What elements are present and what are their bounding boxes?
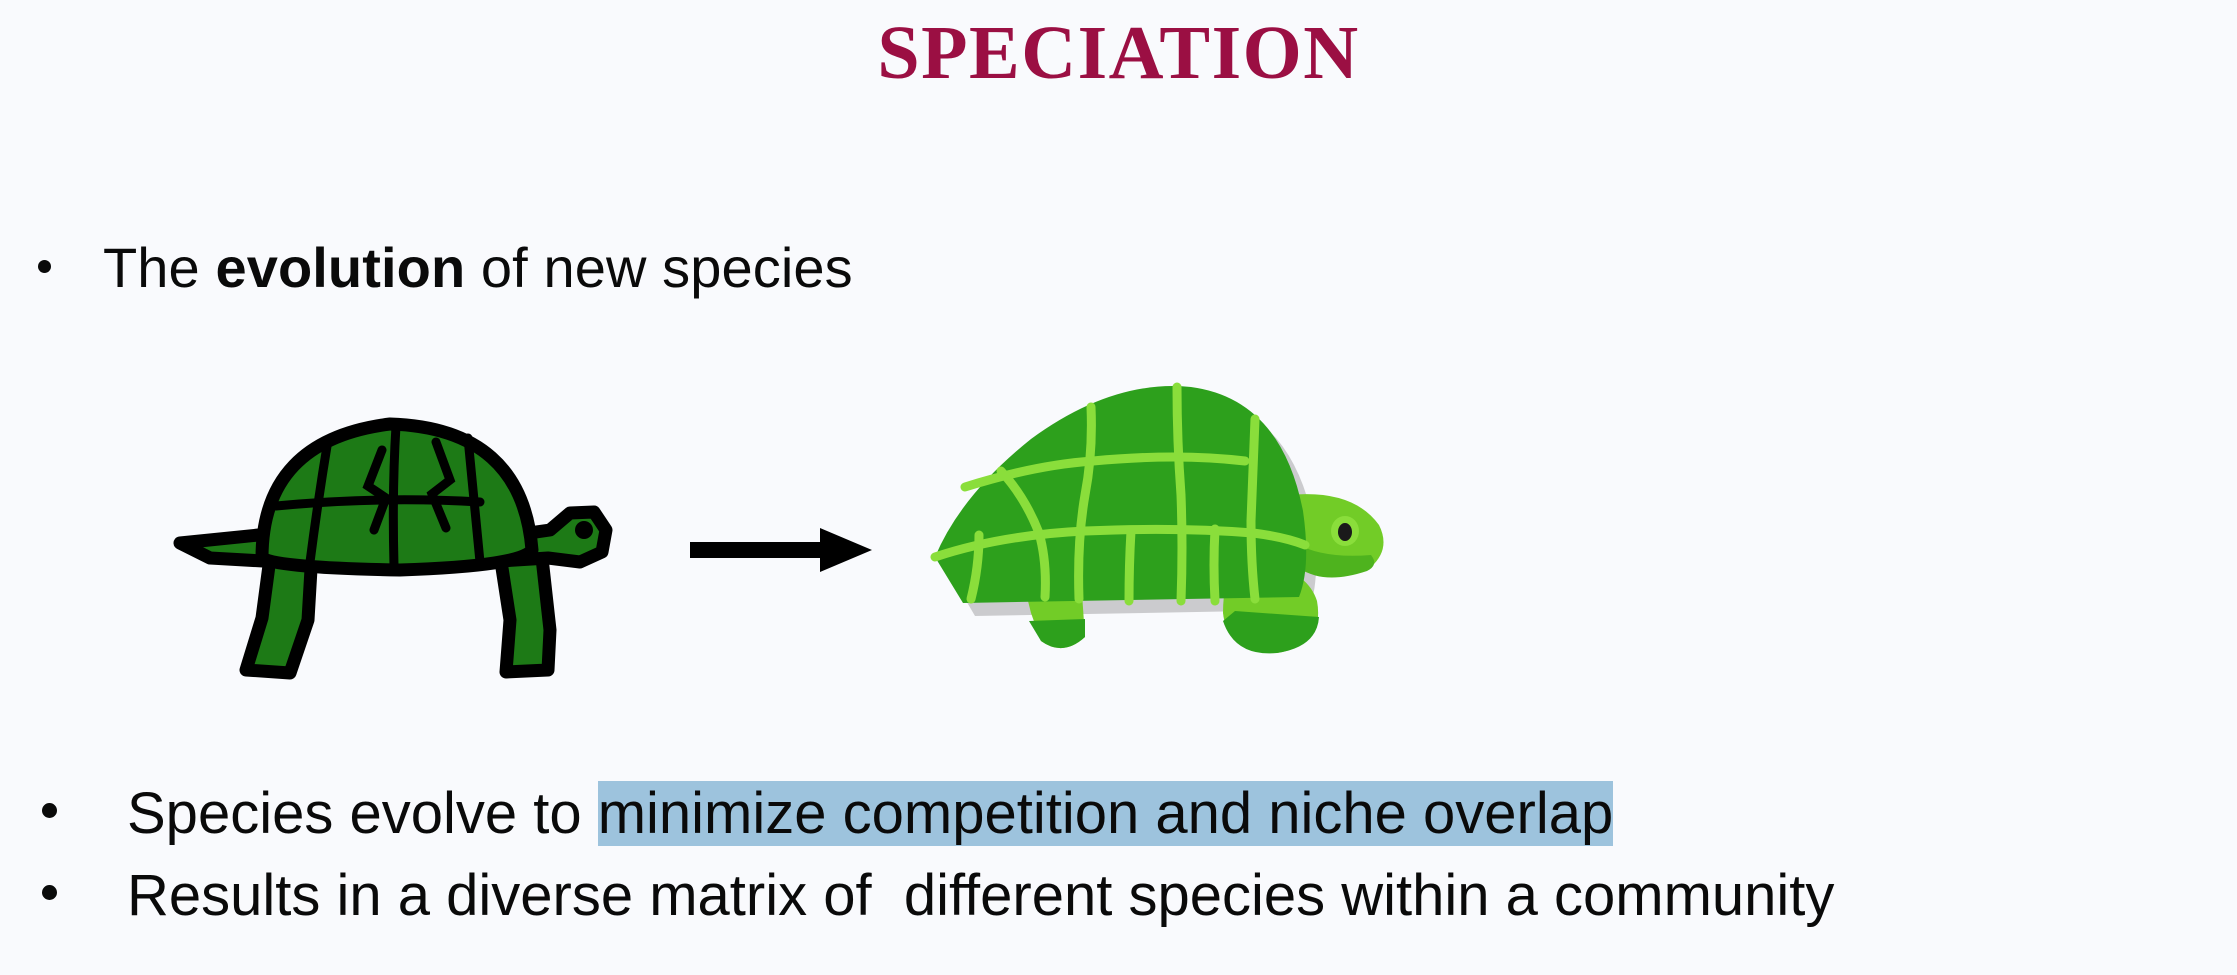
bullet-third-text: Results in a diverse matrix of different… <box>127 862 1834 929</box>
highlighted-phrase: minimize competition and niche overlap <box>598 781 1614 846</box>
bullet-first-lead: The <box>103 236 215 299</box>
page-title: SPECIATION <box>0 14 2237 94</box>
bullet-second-text: Species evolve to minimize competition a… <box>127 780 1613 847</box>
bullet-item-minimize-competition: Species evolve to minimize competition a… <box>42 780 1613 847</box>
bullet-dot-icon <box>38 260 51 273</box>
bullet-second-lead: Species evolve to <box>127 781 598 846</box>
bullet-dot-icon <box>42 885 57 900</box>
bullet-first-tail: of new species <box>465 236 852 299</box>
ancestral-turtle-eye <box>575 521 593 539</box>
bullet-item-diverse-matrix: Results in a diverse matrix of different… <box>42 862 1834 929</box>
evolves-into-arrow-icon <box>690 520 875 580</box>
bullet-first-text: The evolution of new species <box>103 235 853 300</box>
bullet-first-emphasis: evolution <box>215 236 465 299</box>
bullet-dot-icon <box>42 803 57 818</box>
bullet-item-evolution: The evolution of new species <box>38 235 853 300</box>
slide-canvas: SPECIATION The evolution of new species <box>0 0 2237 975</box>
descendant-turtle-image <box>905 345 1405 665</box>
speciation-illustration <box>0 345 2237 745</box>
ancestral-turtle-image <box>150 380 630 690</box>
